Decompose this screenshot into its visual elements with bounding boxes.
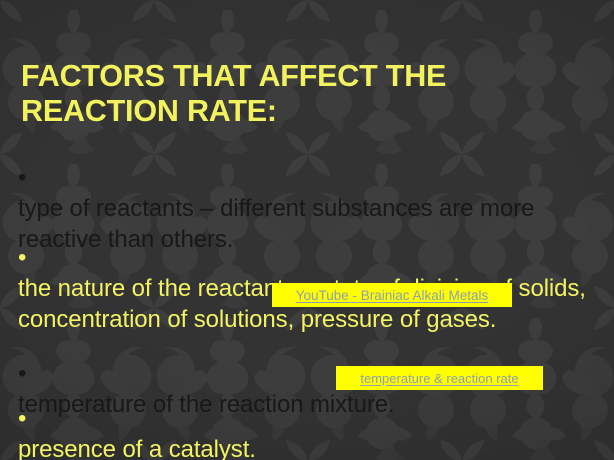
hyperlink-youtube-brainiac-alkali-metals[interactable]: YouTube - Brainiac Alkali Metals	[272, 283, 512, 307]
slide-title: FACTORS THAT AFFECT THE REACTION RATE:	[21, 59, 581, 129]
bullet-marker-2: •	[18, 244, 26, 271]
presentation-slide: FACTORS THAT AFFECT THE REACTION RATE: •…	[0, 0, 614, 460]
hyperlink-youtube-label[interactable]: YouTube - Brainiac Alkali Metals	[296, 288, 489, 303]
hyperlink-temperature-reaction-rate[interactable]: temperature & reaction rate	[336, 366, 543, 390]
slide-content: FACTORS THAT AFFECT THE REACTION RATE: •…	[0, 0, 614, 460]
bullet-label-4: presence of a catalyst.	[18, 436, 256, 460]
hyperlink-temperature-label[interactable]: temperature & reaction rate	[360, 371, 518, 386]
bullet-marker-1: •	[18, 164, 26, 191]
bullet-item-2: • the nature of the reactants – state of…	[18, 211, 598, 335]
bullet-marker-4: •	[18, 405, 26, 432]
